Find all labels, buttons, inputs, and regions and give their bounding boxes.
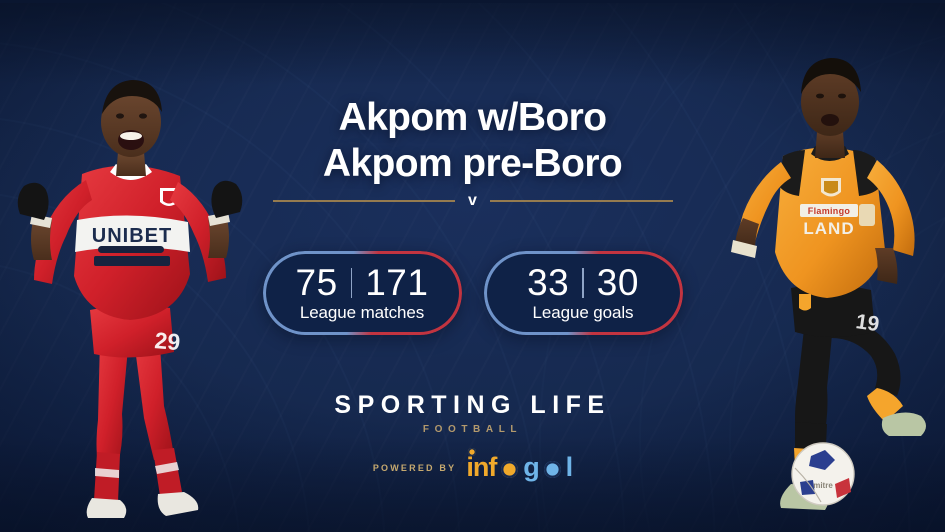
stat-label: League goals — [533, 303, 634, 323]
headline-line-2: Akpom pre-Boro — [323, 144, 622, 185]
svg-text:mitre: mitre — [813, 481, 833, 490]
stat-values: 75 171 — [296, 264, 429, 301]
stat-label: League matches — [300, 303, 424, 323]
stat-left-value: 33 — [527, 264, 569, 301]
svg-text:29: 29 — [154, 327, 182, 355]
sporting-life-subtitle: FOOTBALL — [334, 425, 610, 435]
svg-text:LAND: LAND — [803, 219, 854, 238]
infogol-text-part3: l — [566, 452, 573, 482]
page-title: Akpom w/Boro Akpom pre-Boro — [323, 98, 622, 184]
infogol-logo: inf g l — [466, 454, 572, 481]
infogol-text-part2: g — [523, 452, 539, 482]
stat-pill-league-matches: 75 171 League matches — [263, 251, 462, 335]
stat-separator — [351, 268, 353, 298]
infogol-ball-o-icon — [501, 461, 518, 478]
svg-text:19: 19 — [854, 310, 880, 336]
stat-values: 33 30 — [527, 264, 639, 301]
stat-separator — [582, 268, 584, 298]
brand-footer: SPORTING LIFE FOOTBALL POWERED BY inf g … — [334, 393, 610, 481]
stat-left-value: 75 — [296, 264, 338, 301]
infogol-ball-o-blue-icon — [544, 461, 561, 478]
player-right-hull-city: 19 Flamingo LAND — [699, 36, 945, 526]
center-content: Akpom w/Boro Akpom pre-Boro v 75 171 Lea… — [213, 0, 733, 532]
versus-divider: v — [273, 193, 673, 209]
sporting-life-stat-graphic: 29 UNIBET — [0, 0, 945, 532]
sporting-life-wordmark: SPORTING LIFE — [334, 393, 610, 418]
infogol-text-part1: inf — [466, 452, 496, 482]
svg-text:UNIBET: UNIBET — [92, 225, 172, 247]
stat-pill-group: 75 171 League matches 33 30 League goals — [263, 251, 683, 335]
powered-by-row: POWERED BY inf g l — [334, 454, 610, 481]
stat-right-value: 30 — [597, 264, 639, 301]
divider-rule-left — [273, 200, 456, 202]
svg-text:Flamingo: Flamingo — [808, 206, 851, 216]
divider-rule-right — [490, 200, 673, 202]
stat-pill-league-goals: 33 30 League goals — [484, 251, 683, 335]
stat-right-value: 171 — [365, 264, 428, 301]
headline-line-1: Akpom w/Boro — [339, 96, 607, 139]
powered-by-label: POWERED BY — [373, 463, 457, 473]
infogol-dot-ball-icon — [468, 448, 476, 456]
versus-label: v — [455, 193, 490, 209]
